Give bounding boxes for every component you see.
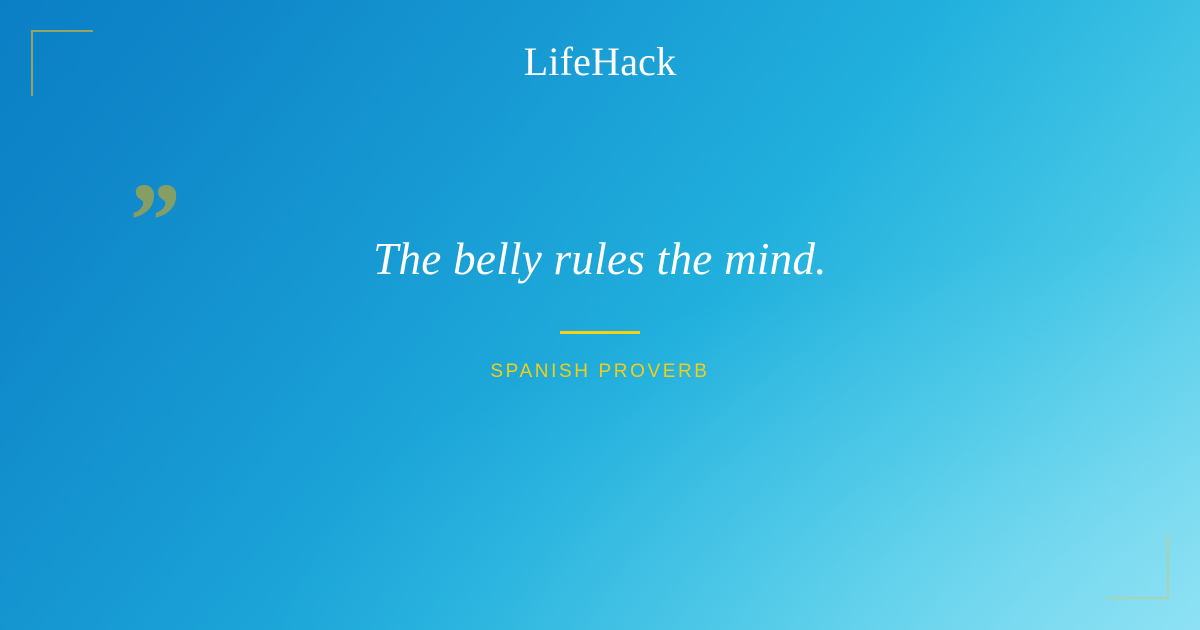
quote-card: LifeHack ” The belly rules the mind. SPA…	[0, 0, 1200, 630]
quote-content: The belly rules the mind. SPANISH PROVER…	[0, 0, 1200, 630]
quote-attribution: SPANISH PROVERB	[490, 360, 709, 384]
divider	[560, 331, 640, 334]
quote-text: The belly rules the mind.	[373, 231, 827, 287]
